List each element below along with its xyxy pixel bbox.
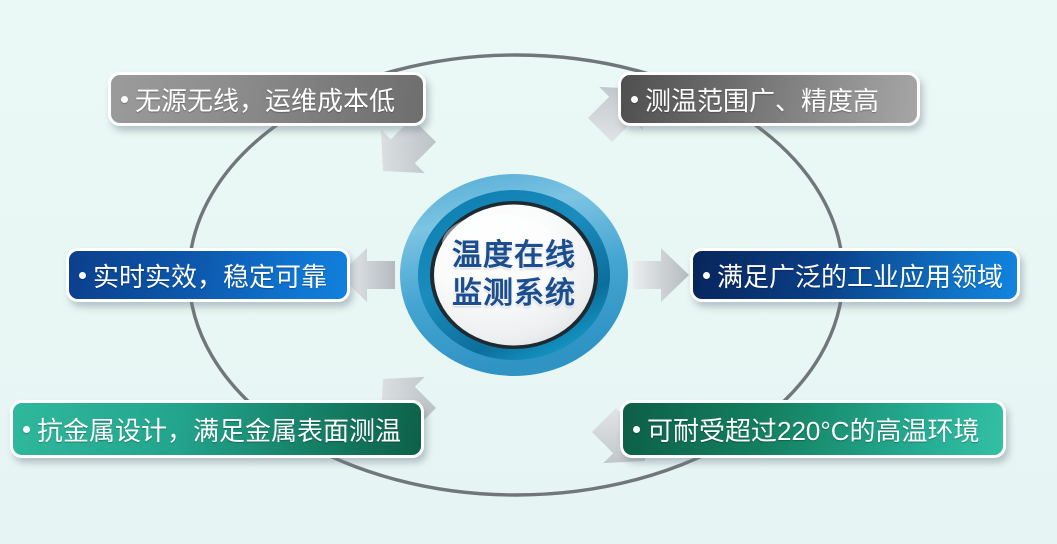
label-right[interactable]: 满足广泛的工业应用领域 <box>690 248 1020 302</box>
hub-ring-graphic <box>398 172 630 378</box>
label-top-left[interactable]: 无源无线，运维成本低 <box>108 72 426 126</box>
label-bottom-right[interactable]: 可耐受超过220°C的高温环境 <box>620 400 1006 458</box>
bullet-icon <box>631 96 638 103</box>
label-right-text: 满足广泛的工业应用领域 <box>717 257 1003 294</box>
label-top-right[interactable]: 测温范围广、精度高 <box>618 72 920 126</box>
bullet-icon <box>79 272 86 279</box>
bullet-icon <box>23 426 30 433</box>
label-top-left-text: 无源无线，运维成本低 <box>135 81 395 118</box>
label-top-right-text: 测温范围广、精度高 <box>645 81 879 118</box>
bullet-icon <box>703 272 710 279</box>
label-bottom-right-text: 可耐受超过220°C的高温环境 <box>647 411 980 448</box>
infographic-canvas: 温度在线 监测系统 无源无线，运维成本低 测温范围广、精度高 实时实效，稳定可靠… <box>0 0 1057 544</box>
label-bottom-left-text: 抗金属设计，满足金属表面测温 <box>37 411 401 448</box>
arrow-right <box>633 248 689 302</box>
central-hub[interactable]: 温度在线 监测系统 <box>398 172 630 378</box>
bullet-icon <box>121 96 128 103</box>
label-bottom-left[interactable]: 抗金属设计，满足金属表面测温 <box>10 400 424 458</box>
label-left[interactable]: 实时实效，稳定可靠 <box>66 248 350 302</box>
label-left-text: 实时实效，稳定可靠 <box>93 257 327 294</box>
bullet-icon <box>633 426 640 433</box>
